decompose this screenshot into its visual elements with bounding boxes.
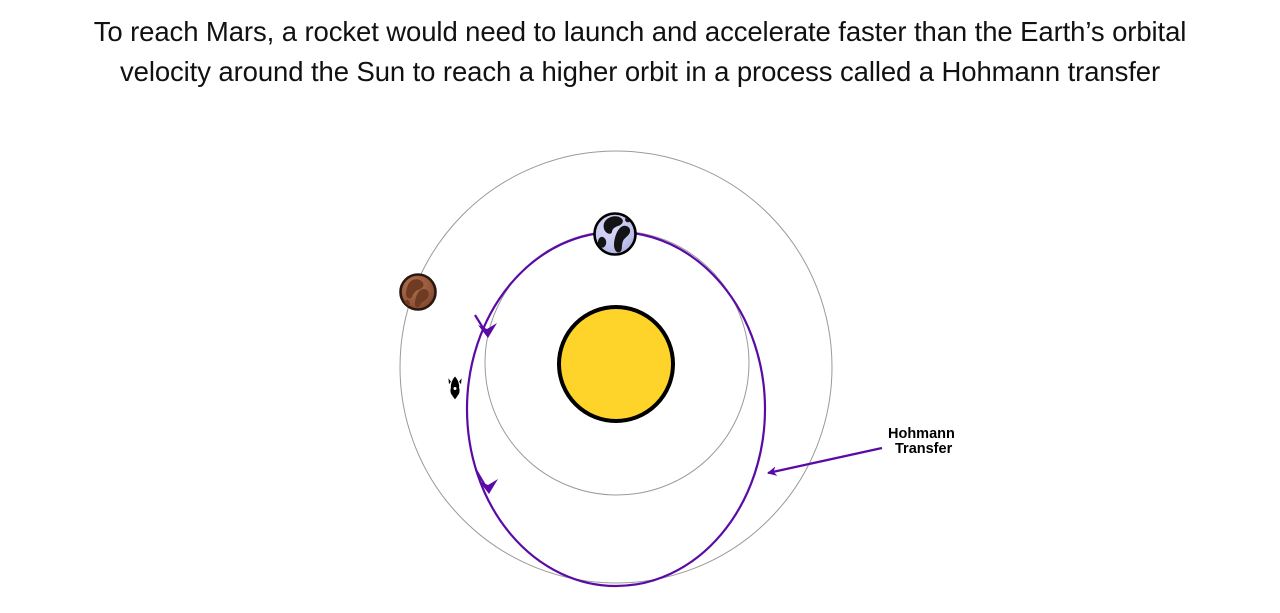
hohmann-label-line-1: Hohmann: [888, 427, 955, 442]
rocket-icon: [448, 377, 461, 400]
transfer-direction-arrow-upper: [475, 315, 497, 338]
earth-body: [595, 214, 636, 255]
sun-body: [559, 307, 673, 421]
mars-body: [401, 275, 436, 310]
diagram-canvas: To reach Mars, a rocket would need to la…: [0, 0, 1280, 613]
solar-system-diagram: [0, 0, 1280, 613]
hohmann-transfer-label: Hohmann Transfer: [888, 427, 955, 457]
hohmann-label-line-2: Transfer: [888, 442, 955, 457]
hohmann-callout-arrow: [768, 448, 882, 473]
